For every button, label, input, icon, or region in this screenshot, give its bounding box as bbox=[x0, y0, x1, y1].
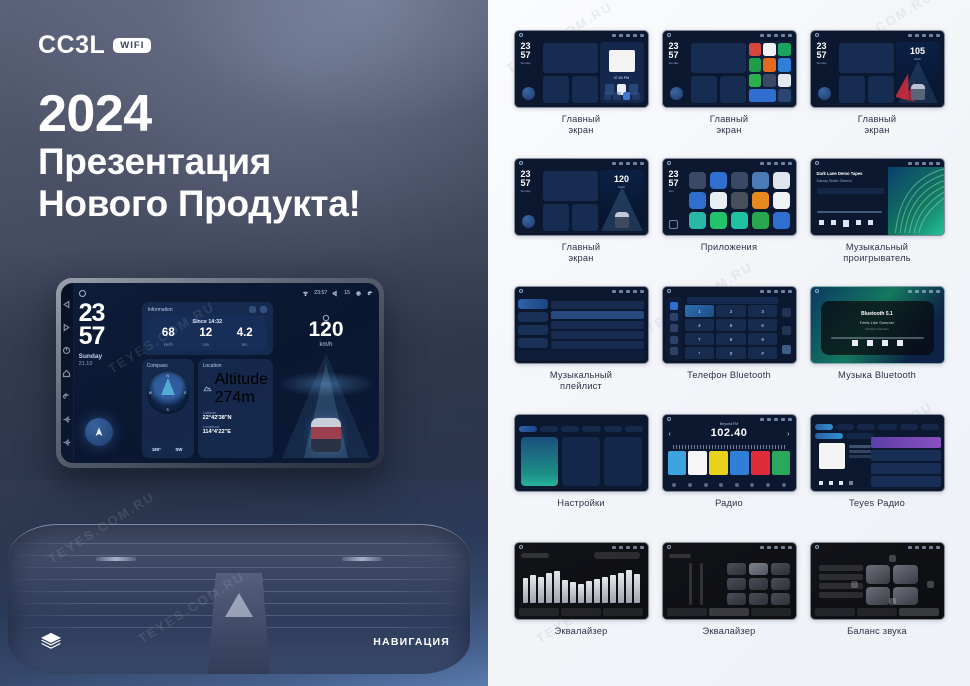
location-card[interactable]: Location Altitude 274m bbox=[198, 359, 273, 459]
mountain-icon bbox=[203, 384, 212, 393]
tab-system bbox=[582, 426, 600, 432]
next-station-icon[interactable]: › bbox=[787, 431, 789, 438]
gallery-caption: Эквалайзер bbox=[554, 626, 607, 637]
latitude-value: 22°42'38"N bbox=[203, 415, 268, 421]
trip-stat-value: 68 bbox=[162, 328, 175, 340]
home-icon[interactable] bbox=[62, 369, 71, 378]
gallery-item[interactable]: Эквалайзер bbox=[658, 542, 800, 668]
gallery-item[interactable]: Эквалайзер bbox=[510, 542, 652, 668]
thumb-clock: 2357Sunday bbox=[669, 42, 679, 65]
compass-s: S bbox=[166, 408, 168, 412]
station-list[interactable] bbox=[871, 437, 940, 487]
expand-icon[interactable] bbox=[260, 306, 267, 313]
thumb-location-card bbox=[572, 76, 598, 103]
thumb-clock: 2357Sun bbox=[669, 170, 679, 193]
headline-year: 2024 bbox=[38, 88, 458, 141]
thumb-clock: 2357Sunday bbox=[521, 42, 531, 65]
status-right-group: 23:57 15 bbox=[302, 290, 374, 297]
preset-1 bbox=[668, 451, 687, 475]
speed-unit: km/h bbox=[278, 342, 374, 348]
head-unit-bezel: 23:57 15 23 57 Sunday 21.10 bbox=[56, 278, 384, 468]
clock-widget[interactable]: 23 57 Sunday 21.10 bbox=[79, 302, 137, 458]
gear-icon[interactable] bbox=[355, 290, 362, 297]
navigation-arrow-icon bbox=[93, 426, 105, 438]
hero-panel: CC3L WIFI 2024 Презентация Нового Продук… bbox=[0, 0, 488, 686]
thumb-clock: 2357Sunday bbox=[521, 170, 531, 193]
thumbnail-bt-music[interactable]: Bluetooth 5.1 Feels Like Summer Childish… bbox=[810, 286, 945, 364]
gallery-caption: Музыкальныйплейлист bbox=[550, 370, 612, 392]
next-icon bbox=[839, 481, 843, 485]
next-track-icon[interactable] bbox=[62, 323, 71, 332]
pause-icon[interactable] bbox=[843, 220, 849, 227]
dial-key: 1 bbox=[685, 305, 715, 317]
repeat-icon[interactable] bbox=[868, 220, 873, 225]
speed-navigation-widget[interactable]: 120 km/h bbox=[278, 302, 374, 458]
information-card[interactable]: Information Since 14:32 68 km/h bbox=[142, 302, 273, 355]
thumb-nav-button bbox=[522, 87, 535, 100]
station-artwork bbox=[819, 443, 845, 469]
preset-3 bbox=[709, 451, 728, 475]
equalizer-sliders[interactable] bbox=[523, 563, 640, 603]
carplay-card[interactable] bbox=[562, 437, 600, 486]
back-arrow-icon[interactable] bbox=[367, 290, 374, 297]
balance-right-button[interactable] bbox=[927, 581, 934, 588]
eq2-preset-buttons[interactable] bbox=[727, 563, 790, 605]
gallery-item[interactable]: Beyond FM 102.40 ‹ › Радио bbox=[658, 414, 800, 540]
preset-5 bbox=[751, 451, 770, 475]
information-title: Information bbox=[148, 307, 173, 313]
trip-stat-unit: min bbox=[199, 342, 212, 347]
tab-about bbox=[625, 426, 643, 432]
thumb-nav-panel: 105 km/h bbox=[896, 42, 940, 103]
hero-footer: НАВИГАЦИЯ bbox=[0, 600, 488, 686]
trip-values: 68 km/h 12 min 4.2 bbox=[150, 328, 265, 347]
volume-icon bbox=[332, 290, 339, 297]
gallery-item[interactable]: Настройки bbox=[510, 414, 652, 540]
phone-sidebar[interactable] bbox=[666, 297, 682, 360]
thumbnail-radio[interactable]: Beyond FM 102.40 ‹ › bbox=[662, 414, 797, 492]
equalizer-tabs[interactable] bbox=[667, 608, 792, 616]
back-icon bbox=[669, 220, 678, 229]
music-visualizer bbox=[888, 167, 944, 235]
gallery-item[interactable]: 2357Sunday Главныйэкран bbox=[658, 30, 800, 156]
head-unit-body: 23 57 Sunday 21.10 Information bbox=[79, 299, 374, 458]
balance-tabs[interactable] bbox=[815, 608, 940, 616]
settings-tabs[interactable] bbox=[519, 425, 644, 433]
car-3d-model bbox=[311, 418, 341, 452]
preset-2 bbox=[688, 451, 707, 475]
layers-icon bbox=[40, 632, 62, 652]
vent-chrome-right bbox=[342, 557, 382, 561]
back-icon[interactable] bbox=[62, 392, 71, 401]
hero-headline: 2024 Презентация Нового Продукта! bbox=[38, 88, 458, 225]
speed-limit-icon bbox=[322, 309, 330, 317]
dial-pad[interactable]: 1 2 3 4 5 6 7 8 9 * 0 # bbox=[685, 305, 778, 359]
refresh-icon[interactable] bbox=[249, 306, 256, 313]
station-meta bbox=[849, 445, 871, 458]
clock-minutes: 57 bbox=[79, 325, 137, 348]
trip-since-label: Since 14:32 bbox=[150, 319, 265, 325]
thumbnail-music-player[interactable]: Dark Lane Demo Tapes Subway Stroller Sho… bbox=[810, 158, 945, 236]
call-icon bbox=[782, 345, 791, 354]
gallery-item[interactable]: Баланс звука bbox=[806, 542, 948, 668]
dial-key: 5 bbox=[716, 319, 746, 331]
play-pause-icon bbox=[867, 340, 873, 346]
compass-e: E bbox=[184, 391, 186, 395]
thumbnail-app-drawer[interactable]: 2357Sun bbox=[662, 158, 797, 236]
teyes-radio-subtabs[interactable] bbox=[815, 433, 875, 439]
dial-key: 9 bbox=[748, 333, 778, 345]
volume-down-icon[interactable] bbox=[62, 415, 71, 424]
thumb-clock: 2357Sunday bbox=[817, 42, 827, 65]
bluetooth-version: Bluetooth 5.1 bbox=[821, 311, 934, 317]
gallery-caption: Главныйэкран bbox=[562, 114, 600, 136]
tab-display bbox=[561, 426, 579, 432]
thumb-media-panel: 07:50 PM bbox=[600, 42, 644, 103]
headline-line-2: Презентация bbox=[38, 141, 458, 183]
info-column: Information Since 14:32 68 km/h bbox=[142, 302, 273, 458]
radio-frequency: 102.40 bbox=[663, 427, 796, 439]
headline-line-3: Нового Продукта! bbox=[38, 183, 458, 225]
navigation-label: НАВИГАЦИЯ bbox=[373, 636, 450, 648]
dial-key: 0 bbox=[716, 347, 746, 359]
longitude-value: 114°4'22"E bbox=[203, 429, 268, 435]
equalizer-tabs[interactable] bbox=[519, 608, 644, 616]
stop-icon bbox=[882, 340, 888, 346]
teyes-radio-tabs[interactable] bbox=[815, 424, 940, 430]
gallery-item[interactable]: 2357Sunday 07:50 PM bbox=[510, 30, 652, 156]
gallery-caption: Главныйэкран bbox=[858, 114, 896, 136]
trip-stat-unit: km bbox=[237, 342, 253, 347]
status-volume: 15 bbox=[344, 290, 350, 296]
trip-stat-unit: km/h bbox=[162, 342, 175, 347]
logo-text: CC3L bbox=[38, 31, 105, 60]
bt-track-title: Feels Like Summer bbox=[821, 320, 934, 325]
lower-widgets: Compass N E S W 180° bbox=[142, 359, 273, 459]
settings-cards[interactable] bbox=[521, 437, 642, 486]
eq-preset-label[interactable] bbox=[521, 553, 549, 558]
status-time: 23:57 bbox=[314, 290, 327, 296]
compass-card[interactable]: Compass N E S W 180° bbox=[142, 359, 194, 459]
phone-number-field[interactable] bbox=[687, 297, 778, 304]
bluetooth-card: Bluetooth 5.1 Feels Like Summer Childish… bbox=[821, 301, 934, 355]
thumb-compass-card bbox=[543, 76, 569, 103]
status-home-icon[interactable] bbox=[79, 290, 86, 297]
navigation-launch-button[interactable] bbox=[85, 418, 113, 446]
thumbnail-settings[interactable] bbox=[514, 414, 649, 492]
thumbnail-home-speed[interactable]: 2357Sunday 120 km/h bbox=[514, 158, 649, 236]
gallery-item[interactable]: Bluetooth 5.1 Feels Like Summer Childish… bbox=[806, 286, 948, 412]
thumbnail-bt-phone[interactable]: 1 2 3 4 5 6 7 8 9 * 0 # bbox=[662, 286, 797, 364]
screen-content: 23:57 15 23 57 Sunday 21.10 bbox=[74, 283, 379, 463]
prev-station-icon[interactable]: ‹ bbox=[669, 431, 671, 438]
compass-title: Compass bbox=[147, 363, 189, 369]
information-header: Information bbox=[148, 306, 267, 313]
screenshot-grid: 2357Sunday 07:50 PM bbox=[488, 0, 970, 686]
compass-needle-icon bbox=[161, 378, 175, 395]
phone-actions[interactable] bbox=[780, 303, 794, 359]
latitude-row: Latitude 22°42'38"N bbox=[203, 410, 268, 421]
home-icon bbox=[519, 33, 523, 37]
radio-toolbar[interactable] bbox=[667, 481, 792, 488]
favorite-icon bbox=[782, 308, 791, 317]
eq-preset-selector[interactable] bbox=[594, 552, 640, 559]
compass-dial: N E S W bbox=[147, 372, 189, 414]
gallery-caption: Музыкальныйпроигрыватель bbox=[843, 242, 911, 264]
compass-w: W bbox=[149, 391, 152, 395]
track-artist: Subway Stroller Shortcut bbox=[817, 179, 852, 183]
next-icon bbox=[897, 340, 903, 346]
compass-direction: SW bbox=[169, 445, 189, 454]
thumb-info-card bbox=[543, 43, 598, 73]
head-unit-screen[interactable]: 23:57 15 23 57 Sunday 21.10 bbox=[61, 283, 379, 463]
screen-side-rail[interactable] bbox=[61, 283, 74, 463]
previous-icon bbox=[852, 340, 858, 346]
compass-heading: 180° bbox=[147, 445, 167, 454]
app-icon-grid bbox=[687, 170, 792, 231]
altitude-label: Altitude bbox=[215, 371, 268, 389]
balance-left-button[interactable] bbox=[851, 581, 858, 588]
favorite-icon bbox=[849, 481, 853, 485]
gallery-caption: Приложения bbox=[701, 242, 757, 253]
clock-date: 21.10 bbox=[79, 361, 137, 367]
volume-up-icon[interactable] bbox=[62, 438, 71, 447]
eq2-title bbox=[669, 554, 691, 558]
trip-stat-value: 12 bbox=[199, 328, 212, 340]
screenshot-gallery-panel: TEYES.COM.RU TEYES.COM.RU TEYES.COM.RU T… bbox=[488, 0, 970, 686]
gallery-caption: Teyes Радио bbox=[849, 498, 905, 509]
altitude-block: Altitude 274m bbox=[215, 371, 268, 407]
thumbnail-home-media[interactable]: 2357Sunday 07:50 PM bbox=[514, 30, 649, 108]
thumb-speed-value: 120 bbox=[600, 174, 644, 184]
dial-key: 8 bbox=[716, 333, 746, 345]
status-bar: 23:57 15 bbox=[79, 287, 374, 299]
dial-key: 4 bbox=[685, 319, 715, 331]
progress-bar[interactable] bbox=[817, 211, 882, 213]
thumbnail-equalizer-2[interactable] bbox=[662, 542, 797, 620]
preset-6 bbox=[772, 451, 791, 475]
station-presets[interactable] bbox=[668, 451, 791, 475]
gallery-caption: Главныйэкран bbox=[710, 114, 748, 136]
speed-value: 120 bbox=[278, 319, 374, 340]
bt-track-artist: Childish Gambino bbox=[821, 327, 934, 331]
power-icon[interactable] bbox=[62, 346, 71, 355]
tab-wifi bbox=[519, 426, 537, 432]
playlist-tracks[interactable] bbox=[551, 301, 644, 349]
location-altitude-row: Altitude 274m bbox=[203, 371, 268, 407]
gallery-item[interactable]: 2357Sunday 105 km/h Главныйэкран bbox=[806, 30, 948, 156]
logo-wifi-badge: WIFI bbox=[113, 38, 151, 53]
bt-playback-controls[interactable] bbox=[821, 340, 934, 346]
thumb-speed-panel: 120 km/h bbox=[600, 170, 644, 231]
gallery-item[interactable]: 1 2 3 4 5 6 7 8 9 * 0 # Телефон Bluetoo bbox=[658, 286, 800, 412]
thumbnail-teyes-radio[interactable] bbox=[810, 414, 945, 492]
tuning-dial[interactable] bbox=[673, 445, 786, 449]
dial-key: 2 bbox=[716, 305, 746, 317]
dial-key: 3 bbox=[748, 305, 778, 317]
gallery-item[interactable]: 2357Sun Приложения bbox=[658, 158, 800, 284]
thumbnail-equalizer[interactable] bbox=[514, 542, 649, 620]
tab-sound bbox=[540, 426, 558, 432]
thumb-app-shortcuts bbox=[747, 41, 793, 104]
preset-4 bbox=[730, 451, 749, 475]
gallery-caption: Радио bbox=[715, 498, 743, 509]
next-icon[interactable] bbox=[856, 220, 861, 225]
teyes-radio-controls[interactable] bbox=[819, 481, 853, 485]
longitude-row: Longitude 114°4'22"E bbox=[203, 424, 268, 435]
contacts-icon bbox=[782, 326, 791, 335]
wave-lines-icon bbox=[888, 167, 944, 235]
radio-band-label: Beyond FM bbox=[663, 422, 796, 426]
trip-box: Since 14:32 68 km/h 12 min bbox=[148, 316, 267, 351]
thumb-speed-value: 105 bbox=[896, 46, 940, 56]
gallery-item[interactable]: 2357Sunday 120 km/h Главныйэкран bbox=[510, 158, 652, 284]
gallery-caption: Баланс звука bbox=[847, 626, 907, 637]
track-title: Dark Lane Demo Tapes bbox=[817, 171, 863, 176]
wifi-card[interactable] bbox=[521, 437, 559, 486]
thumbnail-home-apps[interactable]: 2357Sunday bbox=[662, 30, 797, 108]
compass-readout: 180° SW bbox=[147, 445, 189, 454]
altitude-value: 274m bbox=[215, 389, 268, 407]
previous-icon[interactable] bbox=[831, 220, 836, 225]
gallery-caption: Эквалайзер bbox=[702, 626, 755, 637]
dial-key: # bbox=[748, 347, 778, 359]
previous-icon bbox=[819, 481, 823, 485]
trip-stat: 68 km/h bbox=[162, 328, 175, 347]
trip-stat-value: 4.2 bbox=[237, 328, 253, 340]
gallery-caption: Главныйэкран bbox=[562, 242, 600, 264]
dial-key: * bbox=[685, 347, 715, 359]
gallery-item[interactable]: Dark Lane Demo Tapes Subway Stroller Sho… bbox=[806, 158, 948, 284]
clock-day: Sunday bbox=[79, 353, 137, 360]
thumbnail-playlist[interactable] bbox=[514, 286, 649, 364]
compass-n: N bbox=[166, 374, 169, 378]
information-actions[interactable] bbox=[249, 306, 267, 313]
shuffle-icon[interactable] bbox=[819, 220, 824, 225]
trip-stat: 4.2 km bbox=[237, 328, 253, 347]
bt-progress-bar[interactable] bbox=[831, 337, 924, 339]
prev-track-icon[interactable] bbox=[62, 300, 71, 309]
eq2-level-sliders[interactable] bbox=[673, 563, 719, 605]
balance-down-button[interactable] bbox=[889, 598, 896, 605]
trip-stat: 12 min bbox=[199, 328, 212, 347]
product-logo: CC3L WIFI bbox=[38, 31, 151, 60]
playback-controls[interactable] bbox=[819, 220, 873, 227]
gallery-item[interactable]: Музыкальныйплейлист bbox=[510, 286, 652, 412]
gallery-item[interactable]: Teyes Радио bbox=[806, 414, 948, 540]
thumbnail-balance[interactable] bbox=[810, 542, 945, 620]
playlist-sidebar[interactable] bbox=[518, 297, 548, 349]
tab-more bbox=[604, 426, 622, 432]
location-title: Location bbox=[203, 363, 268, 369]
gallery-caption: Музыка Bluetooth bbox=[838, 370, 916, 381]
vent-chrome-left bbox=[96, 557, 136, 561]
extra-card[interactable] bbox=[604, 437, 642, 486]
balance-up-button[interactable] bbox=[889, 555, 896, 562]
thumbnail-home-nav[interactable]: 2357Sunday 105 km/h bbox=[810, 30, 945, 108]
gallery-caption: Настройки bbox=[557, 498, 604, 509]
dial-key: 7 bbox=[685, 333, 715, 345]
dial-key: 6 bbox=[748, 319, 778, 331]
wifi-icon bbox=[302, 290, 309, 297]
stop-icon bbox=[829, 481, 833, 485]
gallery-caption: Телефон Bluetooth bbox=[687, 370, 771, 381]
playlist-mini-player[interactable] bbox=[518, 350, 645, 360]
